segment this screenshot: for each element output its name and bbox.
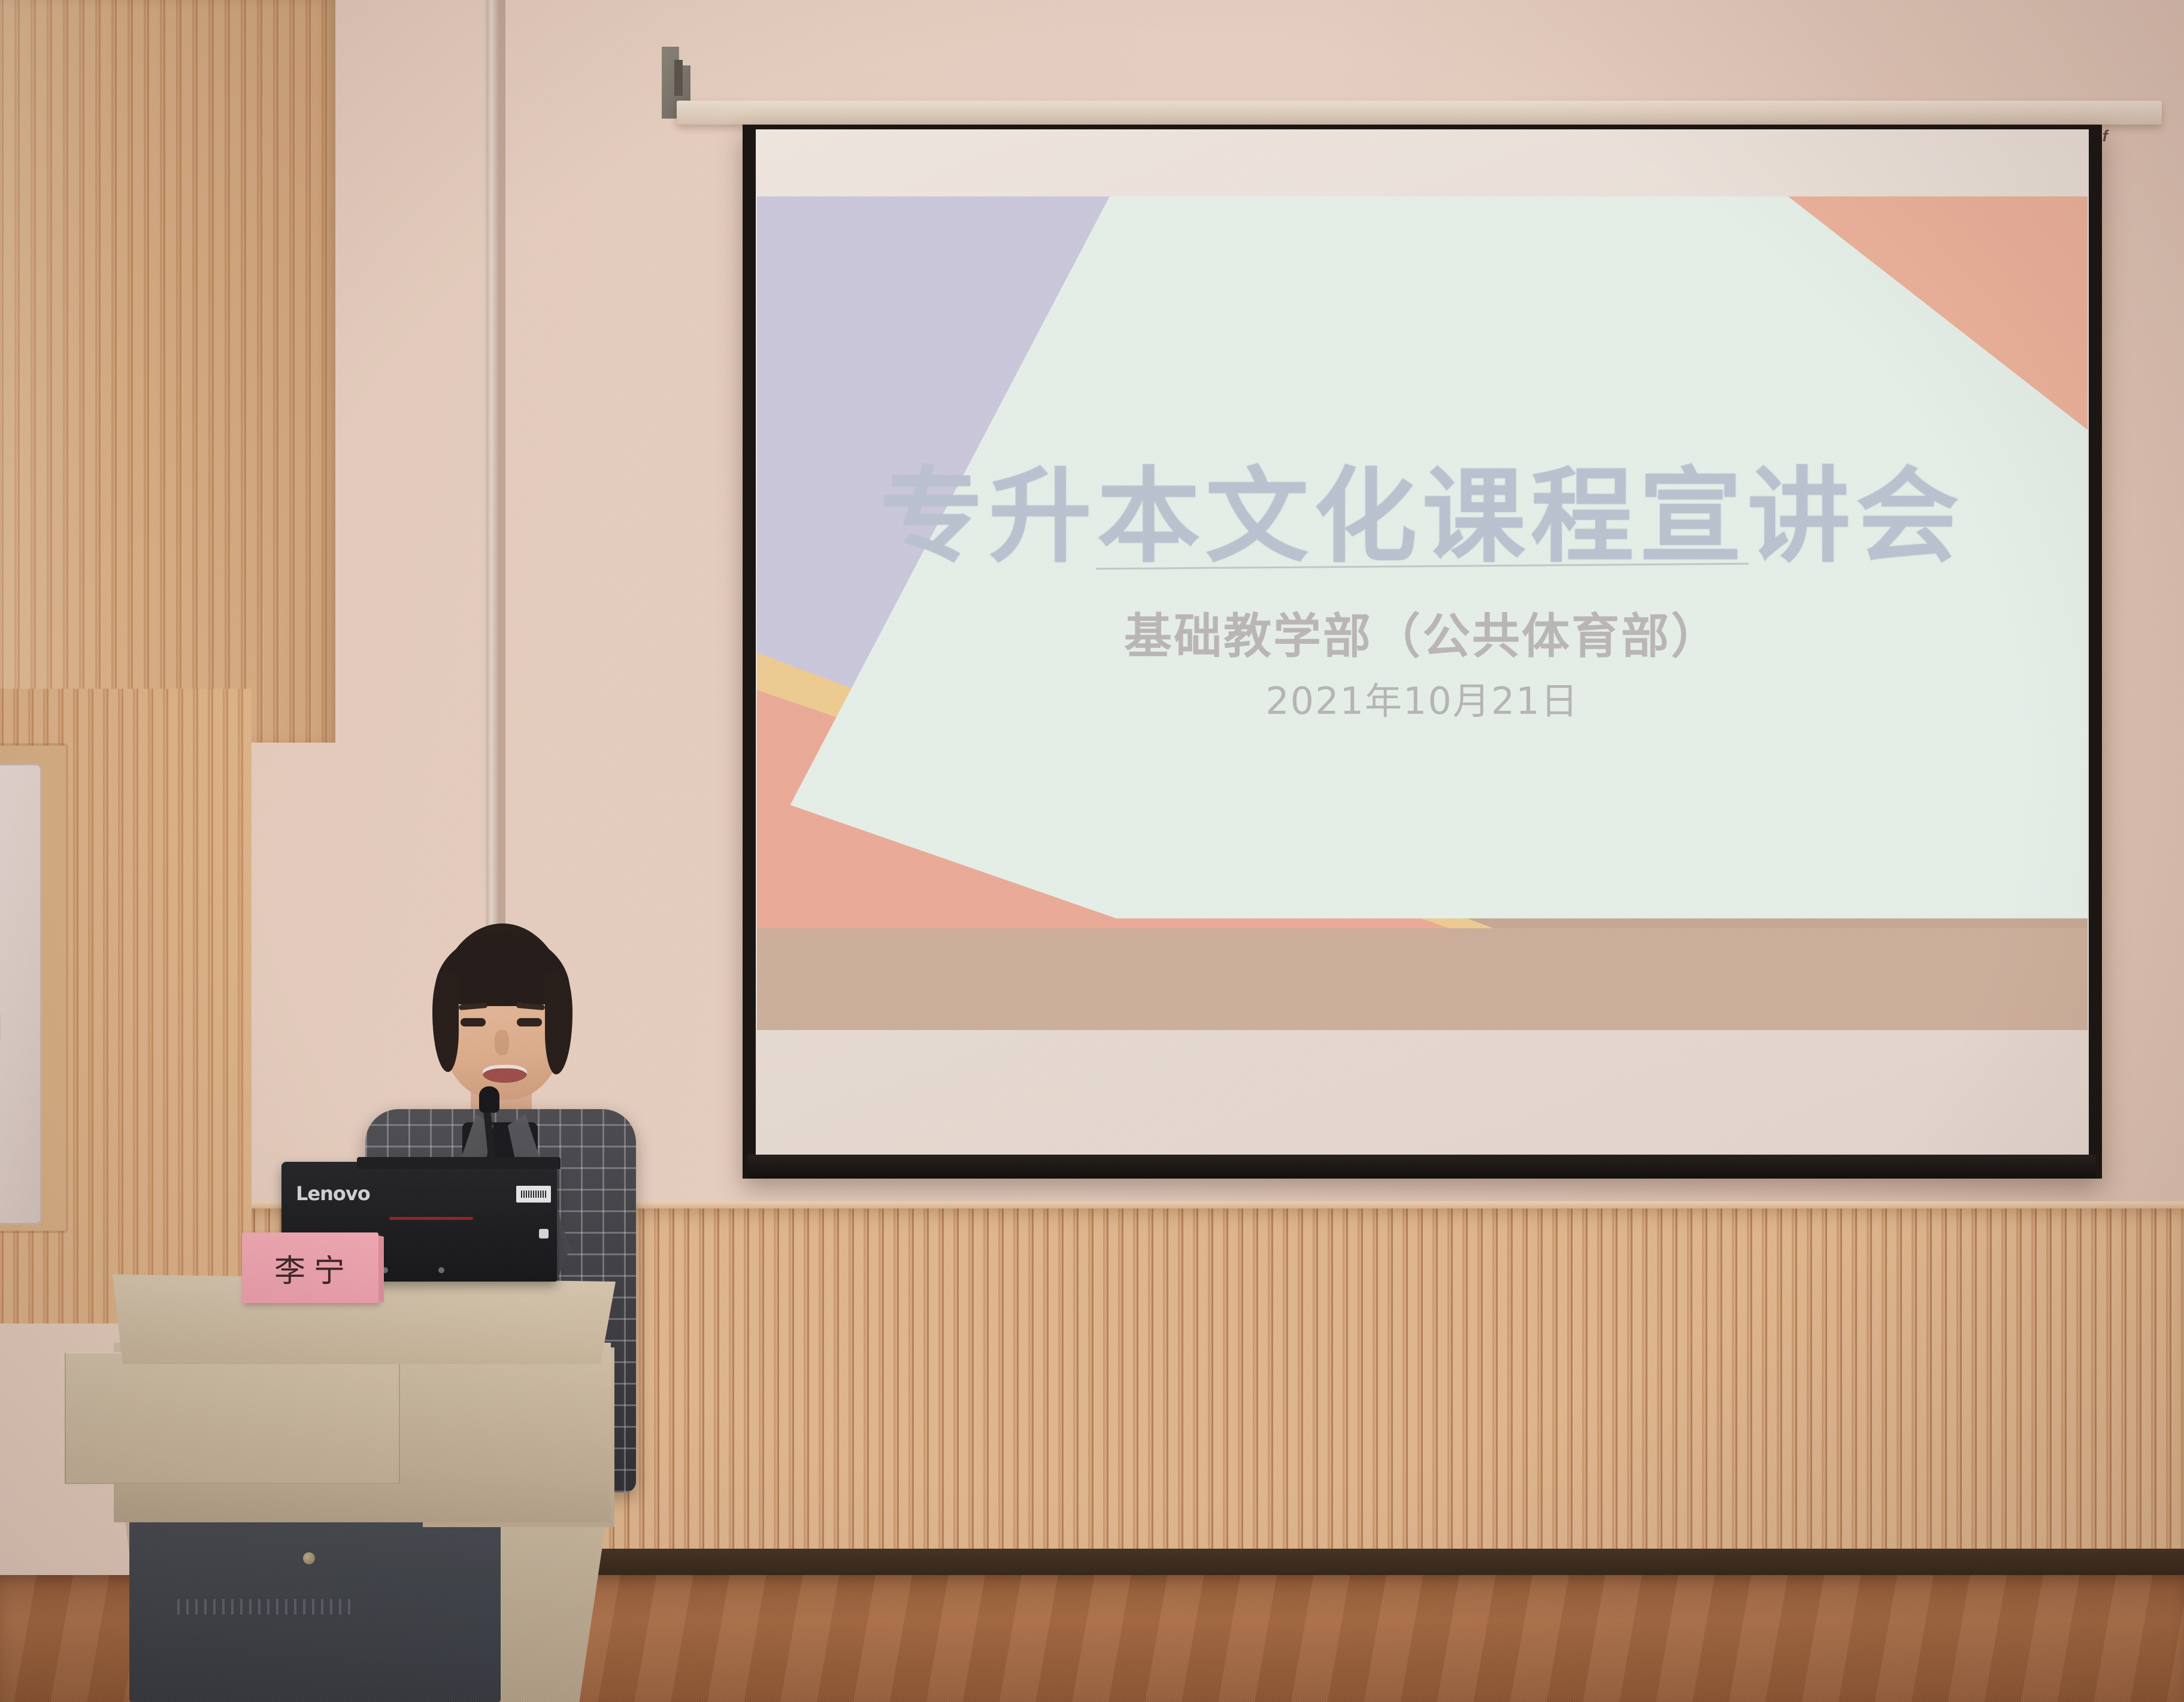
projection-screen-surface: 专升本文化课程宣讲会 基础教学部（公共体育部） 2021年10月21日 (756, 129, 2089, 1155)
slide-subtitle: 基础教学部（公共体育部） (757, 598, 2088, 667)
projection-screen-frame: 专升本文化课程宣讲会 基础教学部（公共体育部） 2021年10月21日 (743, 125, 2102, 1179)
lenovo-logo: Lenovo (296, 1182, 370, 1205)
presenter-hair-side-right (545, 971, 572, 1074)
microphone-icon (479, 1086, 499, 1113)
slide-title: 专升本文化课程宣讲会 (757, 432, 2088, 582)
slide-text-block: 专升本文化课程宣讲会 基础教学部（公共体育部） 2021年10月21日 (757, 196, 2088, 1030)
projection-screen-weight-bar (747, 1155, 2096, 1179)
wood-slat-panel-left-upper (0, 0, 335, 743)
presenter-hair-side-left (432, 971, 459, 1072)
slide-date: 2021年10月21日 (757, 671, 2088, 725)
projection-screen-housing (677, 101, 2162, 125)
monitor-asset-sticker (516, 1186, 551, 1203)
podium-lock-icon[interactable] (303, 1552, 315, 1564)
name-card-text: 李宁 (267, 1246, 353, 1291)
monitor-foot-right (438, 1267, 444, 1273)
name-card: 李宁 (242, 1232, 378, 1303)
screen-mount-bracket-pin (674, 60, 683, 96)
podium-equipment-door[interactable] (129, 1521, 501, 1702)
monitor-accent-stripe (389, 1217, 473, 1220)
podium-front-inset (65, 1352, 400, 1484)
presenter-mouth (483, 1065, 527, 1083)
wall-cabinet-door[interactable] (0, 764, 42, 1225)
podium-vent-slots (177, 1599, 357, 1615)
presenter-nose (495, 1030, 509, 1055)
wall-conduit (486, 0, 499, 982)
photo-scene: ▾Redleaf 专升本文化课程宣讲会 基础教学部（公共体育部） 2021年10… (0, 0, 2184, 1702)
barcode-icon (521, 1191, 546, 1198)
presenter-eye-right (517, 1018, 542, 1026)
wall-cabinet-frame (0, 746, 66, 1231)
monitor-top-edge (357, 1157, 561, 1169)
monitor-indicator (539, 1229, 549, 1238)
wall-conduit-shadow (499, 0, 505, 982)
presenter-eye-left (461, 1018, 486, 1026)
projected-slide: 专升本文化课程宣讲会 基础教学部（公共体育部） 2021年10月21日 (757, 196, 2088, 1030)
